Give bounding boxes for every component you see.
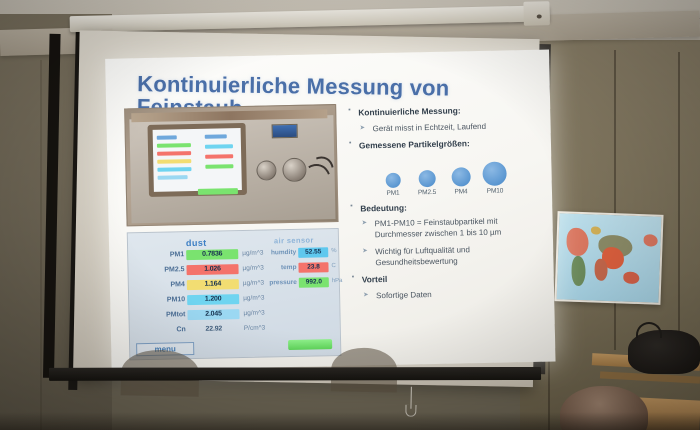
device-display bbox=[148, 123, 247, 197]
wall-panel-seam bbox=[678, 52, 680, 342]
particle-size-item: PM10 bbox=[477, 161, 512, 195]
particle-size-label: PM10 bbox=[478, 187, 512, 195]
wall-panel-seam bbox=[40, 60, 42, 430]
screen-weight-bar bbox=[49, 367, 541, 381]
particle-size-label: PM2.5 bbox=[410, 189, 444, 197]
foreground-shadow bbox=[0, 412, 700, 430]
dust-row-unit: µg/m^3 bbox=[242, 250, 263, 257]
dust-row: Cn22.92P/cm^3 bbox=[134, 324, 264, 338]
dust-row-label: PM2.5 bbox=[164, 266, 184, 273]
bullet-sofortige-daten: Sofortige Daten bbox=[376, 288, 542, 302]
dust-row: PM41.164µg/m^3 bbox=[133, 279, 263, 293]
air-row: pressure992.0hPa bbox=[269, 277, 343, 290]
wall-panel-seam bbox=[614, 50, 616, 350]
dust-panel-title: dust bbox=[186, 238, 207, 248]
dust-row: PM2.51.026µg/m^3 bbox=[132, 264, 262, 278]
air-panel-title: air sensor bbox=[274, 236, 314, 246]
particle-size-item: PM1 bbox=[376, 172, 410, 197]
measurement-device-photo bbox=[124, 104, 338, 226]
dust-row-unit: µg/m^3 bbox=[243, 280, 264, 287]
bullet-bedeutung: Bedeutung: bbox=[360, 200, 540, 214]
particle-size-diagram: PM1PM2.5PM4PM10 bbox=[375, 154, 536, 197]
particle-dot-icon bbox=[418, 170, 435, 187]
air-row-label: pressure bbox=[269, 279, 297, 287]
air-row-label: temp bbox=[281, 264, 297, 271]
particle-dot-icon bbox=[385, 172, 400, 187]
particle-size-item: PM4 bbox=[443, 167, 478, 196]
air-row-unit: C bbox=[331, 263, 335, 269]
dust-row-label: Cn bbox=[176, 326, 185, 333]
dust-row-value: 1.164 bbox=[187, 279, 239, 290]
dust-row-unit: µg/m^3 bbox=[243, 295, 264, 302]
lecture-room-scene: Kontinuierliche Messung von Feinstaub bbox=[0, 0, 700, 430]
particle-size-label: PM1 bbox=[376, 189, 410, 197]
dust-row-label: PM10 bbox=[167, 296, 185, 303]
start-button[interactable] bbox=[288, 339, 332, 350]
air-row-value: 992.0 bbox=[299, 277, 329, 288]
air-row-value: 23.8 bbox=[298, 262, 328, 273]
rail-endcap bbox=[523, 1, 550, 26]
dust-row-value: 1.200 bbox=[187, 294, 239, 305]
bullet-wichtig-luftqualitaet: Wichtig für Luftqualität und Gesundheits… bbox=[375, 244, 541, 269]
air-row-unit: % bbox=[331, 248, 336, 254]
bullet-gemessene-partikelgroessen: Gemessene Partikelgrößen: bbox=[359, 137, 539, 151]
dust-row-value: 2.045 bbox=[187, 309, 239, 320]
dust-row-value: 22.92 bbox=[188, 324, 240, 335]
particle-dot-icon bbox=[451, 167, 470, 186]
air-row-unit: hPa bbox=[332, 278, 343, 284]
bullet-pm-definition: PM1-PM10 = Feinstaubpartikel mit Durchme… bbox=[375, 216, 541, 241]
sensor-data-panel: dust air sensor PM10.7836µg/m^3PM2.51.02… bbox=[127, 228, 342, 360]
screen-surface: Kontinuierliche Messung von Feinstaub bbox=[73, 30, 540, 387]
dust-row: PM10.7836µg/m^3 bbox=[132, 249, 262, 263]
dust-row-label: PMtot bbox=[166, 311, 186, 318]
dust-row-value: 1.026 bbox=[186, 264, 238, 275]
dust-row: PMtot2.045µg/m^3 bbox=[133, 309, 263, 323]
dust-row: PM101.200µg/m^3 bbox=[133, 294, 263, 308]
projected-slide: Kontinuierliche Messung von Feinstaub bbox=[105, 50, 555, 371]
air-row: humdity52.55% bbox=[268, 247, 342, 260]
dust-row-label: PM4 bbox=[170, 281, 185, 288]
air-row: temp23.8C bbox=[268, 262, 342, 275]
device-led-panel bbox=[272, 124, 298, 139]
particle-size-item: PM2.5 bbox=[410, 170, 445, 197]
dust-row-unit: µg/m^3 bbox=[243, 310, 264, 317]
bullet-vorteil: Vorteil bbox=[362, 271, 542, 285]
bullet-geraet-misst: Gerät misst in Echtzeit, Laufend bbox=[373, 120, 539, 134]
air-row-label: humdity bbox=[271, 249, 296, 257]
particle-dot-icon bbox=[482, 161, 506, 185]
air-row-value: 52.55 bbox=[298, 247, 328, 258]
slide-bullet-list: Kontinuierliche Messung: Gerät misst in … bbox=[348, 104, 542, 309]
dust-row-unit: µg/m^3 bbox=[242, 265, 263, 272]
dust-row-unit: P/cm^3 bbox=[244, 325, 266, 332]
particle-size-label: PM4 bbox=[444, 188, 478, 196]
dust-row-label: PM1 bbox=[170, 251, 185, 258]
world-map-poster bbox=[554, 211, 663, 305]
projection-screen: Kontinuierliche Messung von Feinstaub bbox=[54, 12, 562, 430]
dust-row-value: 0.7836 bbox=[186, 249, 238, 260]
